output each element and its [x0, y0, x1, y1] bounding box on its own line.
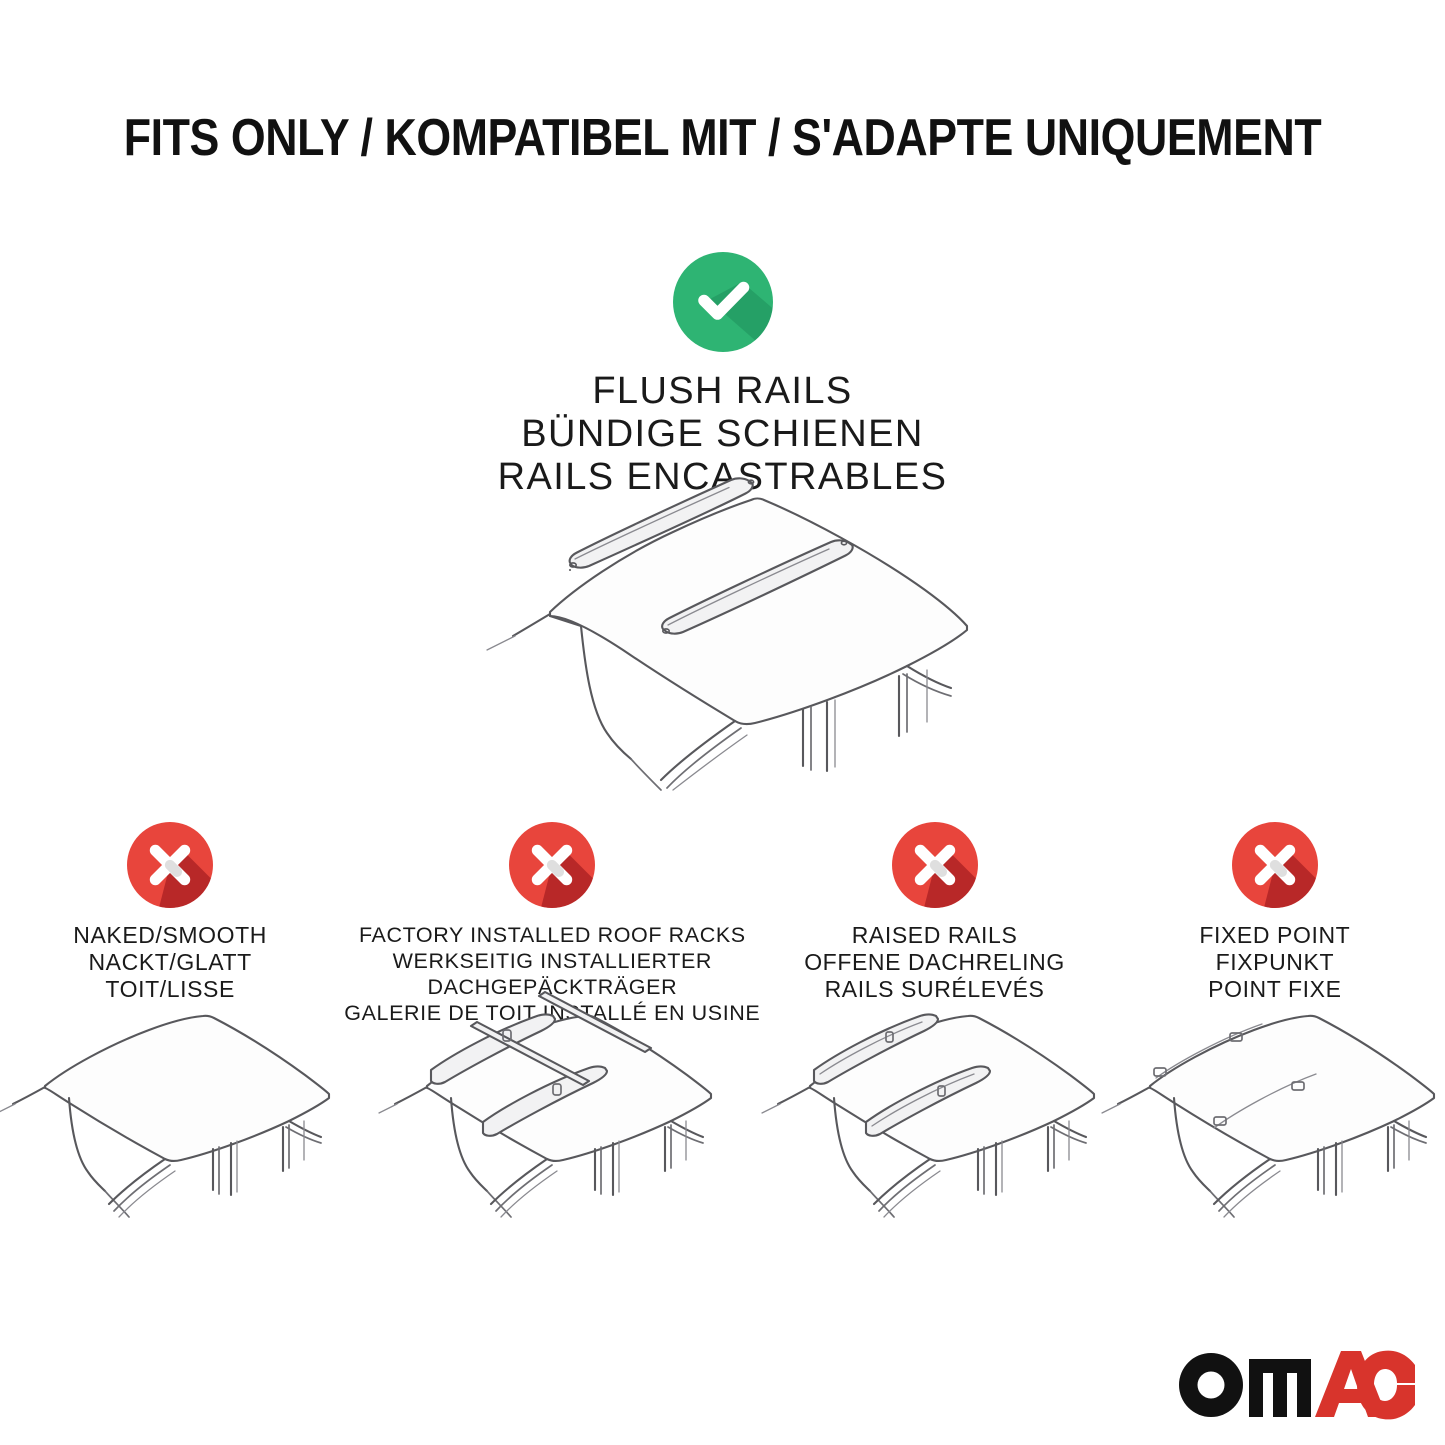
fixed-point-labels: FIXED POINT FIXPUNKT POINT FIXE — [1105, 922, 1445, 1003]
page-title: FITS ONLY / KOMPATIBEL MIT / S'ADAPTE UN… — [101, 108, 1344, 168]
label-fr: RAILS SURÉLEVÉS — [768, 976, 1100, 1003]
logo-letter-m — [1249, 1359, 1311, 1417]
label-fr: TOIT/LISSE — [4, 976, 336, 1003]
label-de-1: WERKSEITIG INSTALLIERTER — [344, 948, 760, 974]
label-fr: POINT FIXE — [1109, 976, 1441, 1003]
raised-rails-labels: RAISED RAILS OFFENE DACHRELING RAILS SUR… — [764, 922, 1104, 1003]
compatible-label-en: FLUSH RAILS — [0, 370, 1445, 413]
incompatible-column-raised-rails: RAISED RAILS OFFENE DACHRELING RAILS SUR… — [764, 822, 1104, 1262]
label-en: FACTORY INSTALLED ROOF RACKS — [344, 922, 760, 948]
car-roof-with-flush-rails-illustration — [455, 470, 1015, 790]
label-de: NACKT/GLATT — [4, 949, 336, 976]
factory-roof-racks-labels: FACTORY INSTALLED ROOF RACKS WERKSEITIG … — [340, 922, 764, 1026]
fitment-infographic: FITS ONLY / KOMPATIBEL MIT / S'ADAPTE UN… — [0, 0, 1445, 1445]
incompatible-column-fixed-point: FIXED POINT FIXPUNKT POINT FIXE — [1105, 822, 1445, 1262]
logo-letter-c — [1357, 1351, 1415, 1420]
compatible-section: FLUSH RAILS BÜNDIGE SCHIENEN RAILS ENCAS… — [0, 252, 1445, 499]
label-en: FIXED POINT — [1109, 922, 1441, 949]
incompatible-column-factory-roof-racks: FACTORY INSTALLED ROOF RACKS WERKSEITIG … — [340, 822, 764, 1262]
car-roof-naked-smooth-illustration — [5, 1014, 335, 1229]
label-en: RAISED RAILS — [768, 922, 1100, 949]
logo-letter-o — [1179, 1353, 1243, 1417]
compatible-label-de: BÜNDIGE SCHIENEN — [0, 413, 1445, 456]
x-circle-icon — [127, 822, 213, 908]
car-roof-with-factory-crossbars-illustration — [387, 1014, 717, 1229]
car-roof-with-raised-rails-illustration — [770, 1014, 1100, 1229]
check-circle-icon — [673, 252, 773, 352]
incompatible-column-naked-smooth: NAKED/SMOOTH NACKT/GLATT TOIT/LISSE — [0, 822, 340, 1262]
label-de: FIXPUNKT — [1109, 949, 1441, 976]
x-circle-icon — [509, 822, 595, 908]
naked-smooth-labels: NAKED/SMOOTH NACKT/GLATT TOIT/LISSE — [0, 922, 340, 1003]
car-roof-with-fixed-points-illustration — [1110, 1014, 1440, 1229]
x-circle-icon — [892, 822, 978, 908]
incompatible-section: NAKED/SMOOTH NACKT/GLATT TOIT/LISSE — [0, 822, 1445, 1262]
label-de: OFFENE DACHRELING — [768, 949, 1100, 976]
omac-logo — [1175, 1341, 1415, 1423]
label-en: NAKED/SMOOTH — [4, 922, 336, 949]
x-circle-icon — [1232, 822, 1318, 908]
